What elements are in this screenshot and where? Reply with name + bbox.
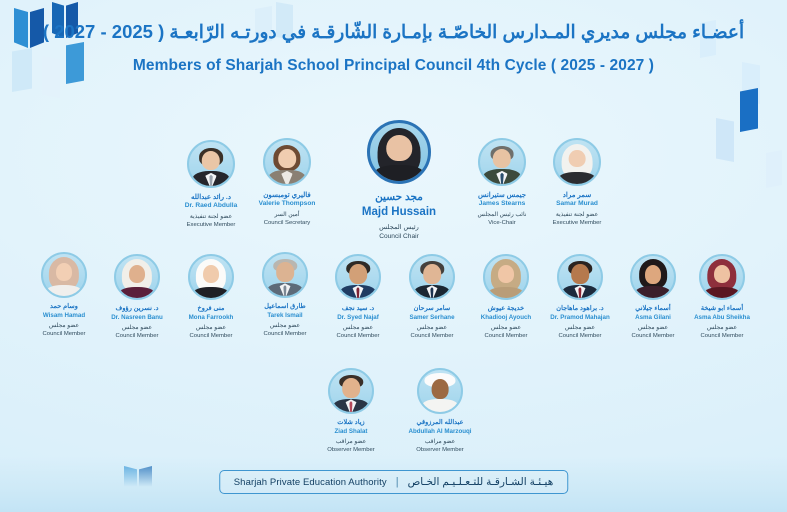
brand-separator: | xyxy=(396,476,399,488)
council-member-card-chair[interactable]: مجد حسين Majd Hussain رئيس المجلس Counci… xyxy=(339,120,459,242)
avatar xyxy=(328,368,374,414)
council-member-card[interactable]: سمر مراد Samar Murad عضو لجنة تنفيذية Ex… xyxy=(531,138,623,228)
member-role-english: Council Member xyxy=(676,333,768,341)
member-name-english: Valerie Thompson xyxy=(241,200,333,209)
page-title-arabic: أعضـاء مجلس مديري المـدارس الخاصّـة بإمـ… xyxy=(0,20,787,45)
member-role-arabic: عضو مراقب xyxy=(394,439,486,447)
member-role-arabic: أمين السر xyxy=(241,212,333,220)
member-role-english: Observer Member xyxy=(394,447,486,455)
member-name-arabic: زياد شلات xyxy=(305,419,397,428)
member-name-english: Asma Abu Sheikha xyxy=(676,314,768,322)
avatar xyxy=(335,254,381,300)
brand-name-arabic: هيـئـة الشـارقـة للتـعـلـيـم الخـاص xyxy=(408,476,554,488)
avatar xyxy=(483,254,529,300)
avatar xyxy=(263,138,311,186)
member-name-arabic: مجد حسين xyxy=(339,191,459,205)
avatar xyxy=(630,254,676,300)
member-role-english: Council Chair xyxy=(339,233,459,242)
member-role-arabic: عضو لجنة تنفيذية xyxy=(531,212,623,220)
avatar xyxy=(188,254,234,300)
member-name-arabic: عبدالله المرزوقي xyxy=(394,419,486,428)
avatar xyxy=(478,138,526,186)
avatar xyxy=(553,138,601,186)
avatar xyxy=(557,254,603,300)
member-name-arabic: سمر مراد xyxy=(531,191,623,200)
avatar xyxy=(114,254,160,300)
avatar xyxy=(417,368,463,414)
council-member-card-observer[interactable]: عبدالله المرزوقي Abdullah Al Marzouqi عض… xyxy=(394,368,486,455)
council-member-card[interactable]: أسماء ابو شيخة Asma Abu Sheikha عضو مجلس… xyxy=(676,254,768,341)
avatar xyxy=(262,252,308,298)
member-role-arabic: عضو مجلس xyxy=(676,325,768,333)
member-name-english: Ziad Shalat xyxy=(305,428,397,436)
council-member-card[interactable]: فاليري تومبسون Valerie Thompson أمين الس… xyxy=(241,138,333,228)
authority-brand-badge: Sharjah Private Education Authority | هي… xyxy=(219,470,569,494)
council-member-card-observer[interactable]: زياد شلات Ziad Shalat عضو مراقب Observer… xyxy=(305,368,397,455)
council-roster: مجد حسين Majd Hussain رئيس المجلس Counci… xyxy=(0,0,787,512)
avatar xyxy=(41,252,87,298)
member-role-arabic: رئيس المجلس xyxy=(339,224,459,233)
member-name-arabic: أسماء ابو شيخة xyxy=(676,305,768,314)
member-name-arabic: فاليري تومبسون xyxy=(241,191,333,200)
member-name-english: Samar Murad xyxy=(531,200,623,209)
avatar xyxy=(409,254,455,300)
page-title-english: Members of Sharjah School Principal Coun… xyxy=(0,57,787,75)
member-role-arabic: عضو مراقب xyxy=(305,439,397,447)
avatar xyxy=(187,140,235,188)
member-role-english: Observer Member xyxy=(305,447,397,455)
member-role-english: Council Secretary xyxy=(241,220,333,228)
avatar xyxy=(699,254,745,300)
member-role-english: Executive Member xyxy=(531,220,623,228)
member-name-english: Majd Hussain xyxy=(339,205,459,221)
member-name-english: Abdullah Al Marzouqi xyxy=(394,428,486,436)
page-header: أعضـاء مجلس مديري المـدارس الخاصّـة بإمـ… xyxy=(0,20,787,75)
brand-name-english: Sharjah Private Education Authority xyxy=(234,477,387,488)
avatar xyxy=(367,120,431,184)
